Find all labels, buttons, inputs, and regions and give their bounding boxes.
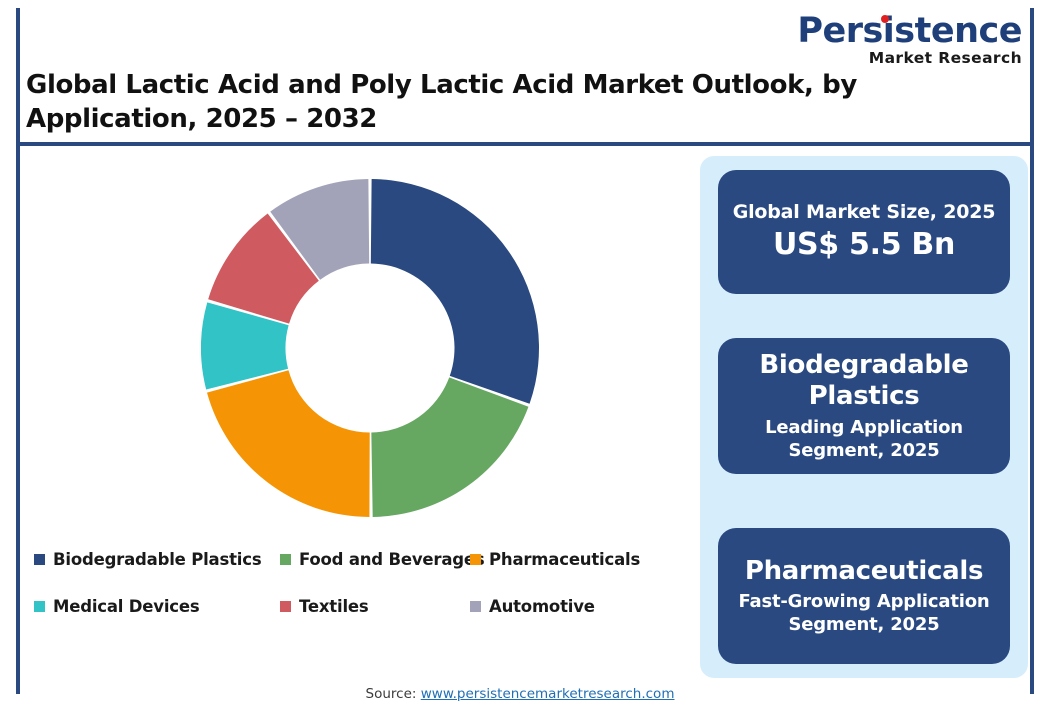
card-leading-segment: Biodegradable Plastics Leading Applicati… [718, 338, 1010, 474]
legend-label: Pharmaceuticals [489, 550, 640, 569]
card-headline: Biodegradable Plastics [730, 350, 998, 413]
infographic-page: Persistence Market Research Global Lacti… [0, 0, 1040, 720]
chart-legend: Biodegradable Plastics Food and Beverage… [34, 550, 684, 616]
legend-swatch-icon [280, 601, 291, 612]
title-divider [16, 142, 1034, 146]
donut-chart-svg [201, 179, 539, 517]
card-fastest-growing-segment: Pharmaceuticals Fast-Growing Application… [718, 528, 1010, 664]
legend-item-automotive: Automotive [470, 597, 670, 616]
legend-swatch-icon [280, 554, 291, 565]
card-subtitle-line-2: Segment, 2025 [730, 613, 998, 636]
source-footer: Source: www.persistencemarketresearch.co… [0, 686, 1040, 702]
source-link[interactable]: www.persistencemarketresearch.com [421, 686, 675, 702]
legend-swatch-icon [470, 601, 481, 612]
legend-item-food-and-beverages: Food and Beverages [280, 550, 470, 569]
card-subtitle-line-1: Fast-Growing Application [730, 590, 998, 613]
card-subtitle-line-1: Leading Application [730, 416, 998, 439]
legend-label: Medical Devices [53, 597, 199, 616]
card-global-market-size: Global Market Size, 2025 US$ 5.5 Bn [718, 170, 1010, 294]
highlight-panel: Global Market Size, 2025 US$ 5.5 Bn Biod… [700, 156, 1028, 678]
card-headline: Pharmaceuticals [730, 556, 998, 588]
source-label: Source: [366, 686, 421, 702]
legend-item-medical-devices: Medical Devices [34, 597, 280, 616]
legend-swatch-icon [34, 601, 45, 612]
chart-area: Biodegradable Plastics Food and Beverage… [20, 152, 690, 672]
donut-slice [207, 370, 370, 517]
page-title: Global Lactic Acid and Poly Lactic Acid … [26, 68, 976, 137]
legend-item-textiles: Textiles [280, 597, 470, 616]
legend-label: Biodegradable Plastics [53, 550, 261, 569]
donut-slice [371, 179, 539, 404]
legend-label: Automotive [489, 597, 595, 616]
logo-tagline: Market Research [797, 51, 1022, 67]
legend-swatch-icon [34, 554, 45, 565]
logo-wordmark-text: Persistence [797, 11, 1022, 51]
frame-border-right [1030, 8, 1034, 694]
logo-wordmark: Persistence [797, 14, 1022, 49]
legend-label: Food and Beverages [299, 550, 484, 569]
legend-item-pharmaceuticals: Pharmaceuticals [470, 550, 670, 569]
legend-item-biodegradable-plastics: Biodegradable Plastics [34, 550, 280, 569]
donut-chart [201, 179, 539, 517]
company-logo: Persistence Market Research [797, 14, 1022, 67]
legend-swatch-icon [470, 554, 481, 565]
card-caption: Global Market Size, 2025 [730, 201, 998, 225]
card-value: US$ 5.5 Bn [730, 227, 998, 263]
donut-slice [371, 377, 528, 517]
legend-label: Textiles [299, 597, 369, 616]
card-subtitle-line-2: Segment, 2025 [730, 439, 998, 462]
